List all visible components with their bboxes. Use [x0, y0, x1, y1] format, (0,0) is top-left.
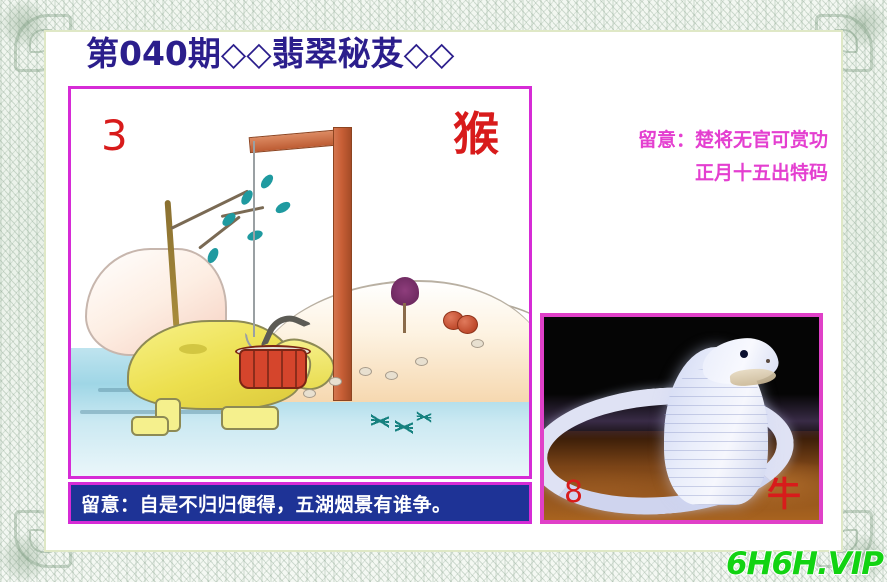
- leaf: [259, 172, 276, 190]
- side-note-line-1: 留意：楚将无官可赏功: [556, 124, 828, 157]
- leaf: [246, 229, 264, 243]
- illustration-panel: 3 猴: [68, 86, 532, 479]
- note-bar-text: 留意：自是不归归便得，五湖烟景有谁争。: [81, 490, 452, 517]
- side-note: 留意：楚将无官可赏功 正月十五出特码: [556, 124, 828, 190]
- illustration-zodiac: 猴: [453, 111, 499, 157]
- crane-post: [333, 127, 352, 401]
- grass-tuft: [417, 408, 431, 426]
- goat-leg: [221, 406, 279, 430]
- illustration-number: 3: [101, 115, 128, 157]
- page-title: 第040期◇◇翡翠秘芨◇◇: [86, 33, 454, 75]
- branch-twig: [170, 189, 249, 229]
- pebble: [359, 367, 372, 376]
- illustration-scene: 3 猴: [71, 89, 529, 476]
- pebble: [471, 339, 484, 348]
- pebble: [303, 389, 316, 398]
- cobra-photo: 8 牛: [540, 313, 823, 524]
- tree-trunk: [403, 303, 406, 333]
- leaf: [274, 200, 292, 216]
- cobra-scale-rings: [664, 369, 768, 505]
- goat-spot: [179, 344, 207, 354]
- side-note-line-2: 正月十五出特码: [556, 157, 828, 190]
- photo-number: 8: [564, 478, 583, 508]
- grass-tuft: [371, 410, 389, 432]
- pebble: [329, 377, 342, 386]
- crane-rope: [253, 141, 255, 337]
- goat-tail-leg: [131, 416, 169, 436]
- water-bucket: [239, 349, 307, 389]
- crane-arm: [249, 129, 344, 153]
- poster-root: 第040期◇◇翡翠秘芨◇◇: [0, 0, 887, 582]
- grass-tuft: [395, 416, 413, 438]
- cobra-eye: [740, 350, 748, 358]
- note-bar: 留意：自是不归归便得，五湖烟景有谁争。: [68, 482, 532, 524]
- leaf: [205, 246, 220, 264]
- cobra-nostril: [766, 359, 770, 363]
- photo-zodiac: 牛: [767, 478, 801, 512]
- fruit: [457, 315, 478, 334]
- watermark: 6H6H.VIP: [726, 549, 883, 580]
- branch-twig: [198, 215, 241, 249]
- pebble: [385, 371, 398, 380]
- pebble: [415, 357, 428, 366]
